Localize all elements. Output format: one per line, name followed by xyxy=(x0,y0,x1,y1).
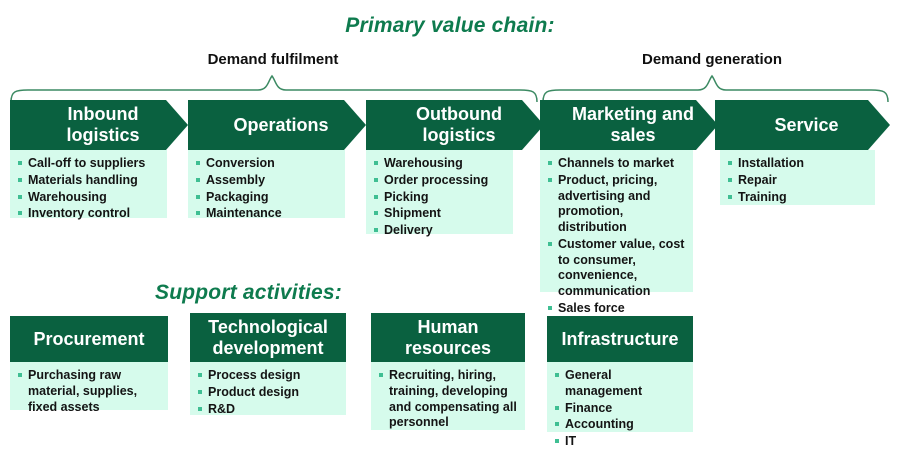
item-list-inbound-logistics: Call-off to suppliers Materials handling… xyxy=(16,156,163,222)
support-activities-title: Support activities: xyxy=(155,281,342,305)
support-title-human-resources: Human resources xyxy=(405,317,491,358)
chevron-header-marketing-and-sales: Marketing and sales xyxy=(540,100,718,150)
list-item: Assembly xyxy=(194,173,341,189)
chevron-body-service: Installation Repair Training xyxy=(720,150,875,205)
chevron-header-outbound-logistics: Outbound logistics xyxy=(366,100,544,150)
list-item: R&D xyxy=(196,402,340,418)
support-body-technological-development: Process design Product design R&D xyxy=(190,362,346,415)
chevron-body-inbound-logistics: Call-off to suppliers Materials handling… xyxy=(10,150,167,218)
support-body-infrastructure: General management Finance Accounting IT xyxy=(547,362,693,432)
chevron-title-service: Service xyxy=(774,115,838,136)
support-body-procurement: Purchasing raw material, supplies, fixed… xyxy=(10,362,168,410)
bracket-group xyxy=(0,68,900,104)
title-line: logistics xyxy=(66,125,139,145)
support-box-human-resources[interactable]: Human resources Recruiting, hiring, trai… xyxy=(371,313,525,430)
title-line: Technological xyxy=(208,317,328,337)
list-item: Process design xyxy=(196,368,340,384)
list-item: Order processing xyxy=(372,173,509,189)
chevron-body-marketing-and-sales: Channels to market Product, pricing, adv… xyxy=(540,150,693,292)
title-line: resources xyxy=(405,338,491,358)
support-header-infrastructure: Infrastructure xyxy=(547,316,693,362)
support-box-technological-development[interactable]: Technological development Process design… xyxy=(190,313,346,415)
list-item: Customer value, cost to consumer, conven… xyxy=(546,237,689,300)
list-item: Repair xyxy=(726,173,871,189)
list-item: General management xyxy=(553,368,687,400)
list-item: Delivery xyxy=(372,223,509,239)
title-line: sales xyxy=(610,125,655,145)
list-item: Purchasing raw material, supplies, fixed… xyxy=(16,368,162,415)
support-title-infrastructure: Infrastructure xyxy=(561,329,678,350)
list-item: Finance xyxy=(553,401,687,417)
list-item: Product design xyxy=(196,385,340,401)
item-list-operations: Conversion Assembly Packaging Maintenanc… xyxy=(194,156,341,222)
list-item: Warehousing xyxy=(16,190,163,206)
chevron-body-outbound-logistics: Warehousing Order processing Picking Shi… xyxy=(366,150,513,234)
chevron-marketing-and-sales[interactable]: Marketing and sales Channels to market P… xyxy=(540,100,718,292)
item-list-service: Installation Repair Training xyxy=(726,156,871,205)
list-item: Materials handling xyxy=(16,173,163,189)
list-item: Maintenance xyxy=(194,206,341,222)
chevron-header-operations: Operations xyxy=(188,100,366,150)
chevron-title-outbound-logistics: Outbound logistics xyxy=(416,104,502,145)
bracket-demand-fulfilment xyxy=(11,76,537,102)
demand-generation-label: Demand generation xyxy=(588,51,836,68)
support-header-human-resources: Human resources xyxy=(371,313,525,362)
title-line: Inbound xyxy=(68,104,139,124)
chevron-outbound-logistics[interactable]: Outbound logistics Warehousing Order pro… xyxy=(366,100,544,234)
list-item: Call-off to suppliers xyxy=(16,156,163,172)
title-line: logistics xyxy=(422,125,495,145)
list-item: Installation xyxy=(726,156,871,172)
item-list-procurement: Purchasing raw material, supplies, fixed… xyxy=(16,368,162,415)
list-item: Warehousing xyxy=(372,156,509,172)
list-item: Training xyxy=(726,190,871,206)
support-box-infrastructure[interactable]: Infrastructure General management Financ… xyxy=(547,316,693,432)
list-item: IT xyxy=(553,434,687,450)
demand-fulfilment-label: Demand fulfilment xyxy=(150,51,396,68)
support-body-human-resources: Recruiting, hiring, training, developing… xyxy=(371,362,525,430)
title-line: development xyxy=(212,338,323,358)
chevron-title-operations: Operations xyxy=(233,115,328,136)
support-title-procurement: Procurement xyxy=(33,329,144,350)
chevron-title-marketing-and-sales: Marketing and sales xyxy=(572,104,694,145)
list-item: Inventory control xyxy=(16,206,163,222)
list-item: Packaging xyxy=(194,190,341,206)
list-item: Product, pricing, advertising and promot… xyxy=(546,173,689,236)
support-header-technological-development: Technological development xyxy=(190,313,346,362)
chevron-body-operations: Conversion Assembly Packaging Maintenanc… xyxy=(188,150,345,218)
list-item: Recruiting, hiring, training, developing… xyxy=(377,368,519,431)
list-item: Conversion xyxy=(194,156,341,172)
chevron-inbound-logistics[interactable]: Inbound logistics Call-off to suppliers … xyxy=(10,100,188,218)
item-list-infrastructure: General management Finance Accounting IT xyxy=(553,368,687,450)
chevron-service[interactable]: Service Installation Repair Training xyxy=(715,100,890,205)
title-line: Outbound xyxy=(416,104,502,124)
list-item: Accounting xyxy=(553,417,687,433)
bracket-demand-generation xyxy=(543,76,888,102)
chevron-header-service: Service xyxy=(715,100,890,150)
list-item: Picking xyxy=(372,190,509,206)
item-list-human-resources: Recruiting, hiring, training, developing… xyxy=(377,368,519,431)
chevron-operations[interactable]: Operations Conversion Assembly Packaging… xyxy=(188,100,366,218)
chevron-header-inbound-logistics: Inbound logistics xyxy=(10,100,188,150)
primary-value-chain-title: Primary value chain: xyxy=(0,14,900,38)
item-list-technological-development: Process design Product design R&D xyxy=(196,368,340,417)
chevron-title-inbound-logistics: Inbound logistics xyxy=(66,104,139,145)
support-header-procurement: Procurement xyxy=(10,316,168,362)
title-line: Human xyxy=(417,317,478,337)
item-list-marketing-and-sales: Channels to market Product, pricing, adv… xyxy=(546,156,689,332)
list-item: Channels to market xyxy=(546,156,689,172)
support-title-technological-development: Technological development xyxy=(208,317,328,358)
support-box-procurement[interactable]: Procurement Purchasing raw material, sup… xyxy=(10,316,168,410)
item-list-outbound-logistics: Warehousing Order processing Picking Shi… xyxy=(372,156,509,239)
title-line: Marketing and xyxy=(572,104,694,124)
list-item: Shipment xyxy=(372,206,509,222)
